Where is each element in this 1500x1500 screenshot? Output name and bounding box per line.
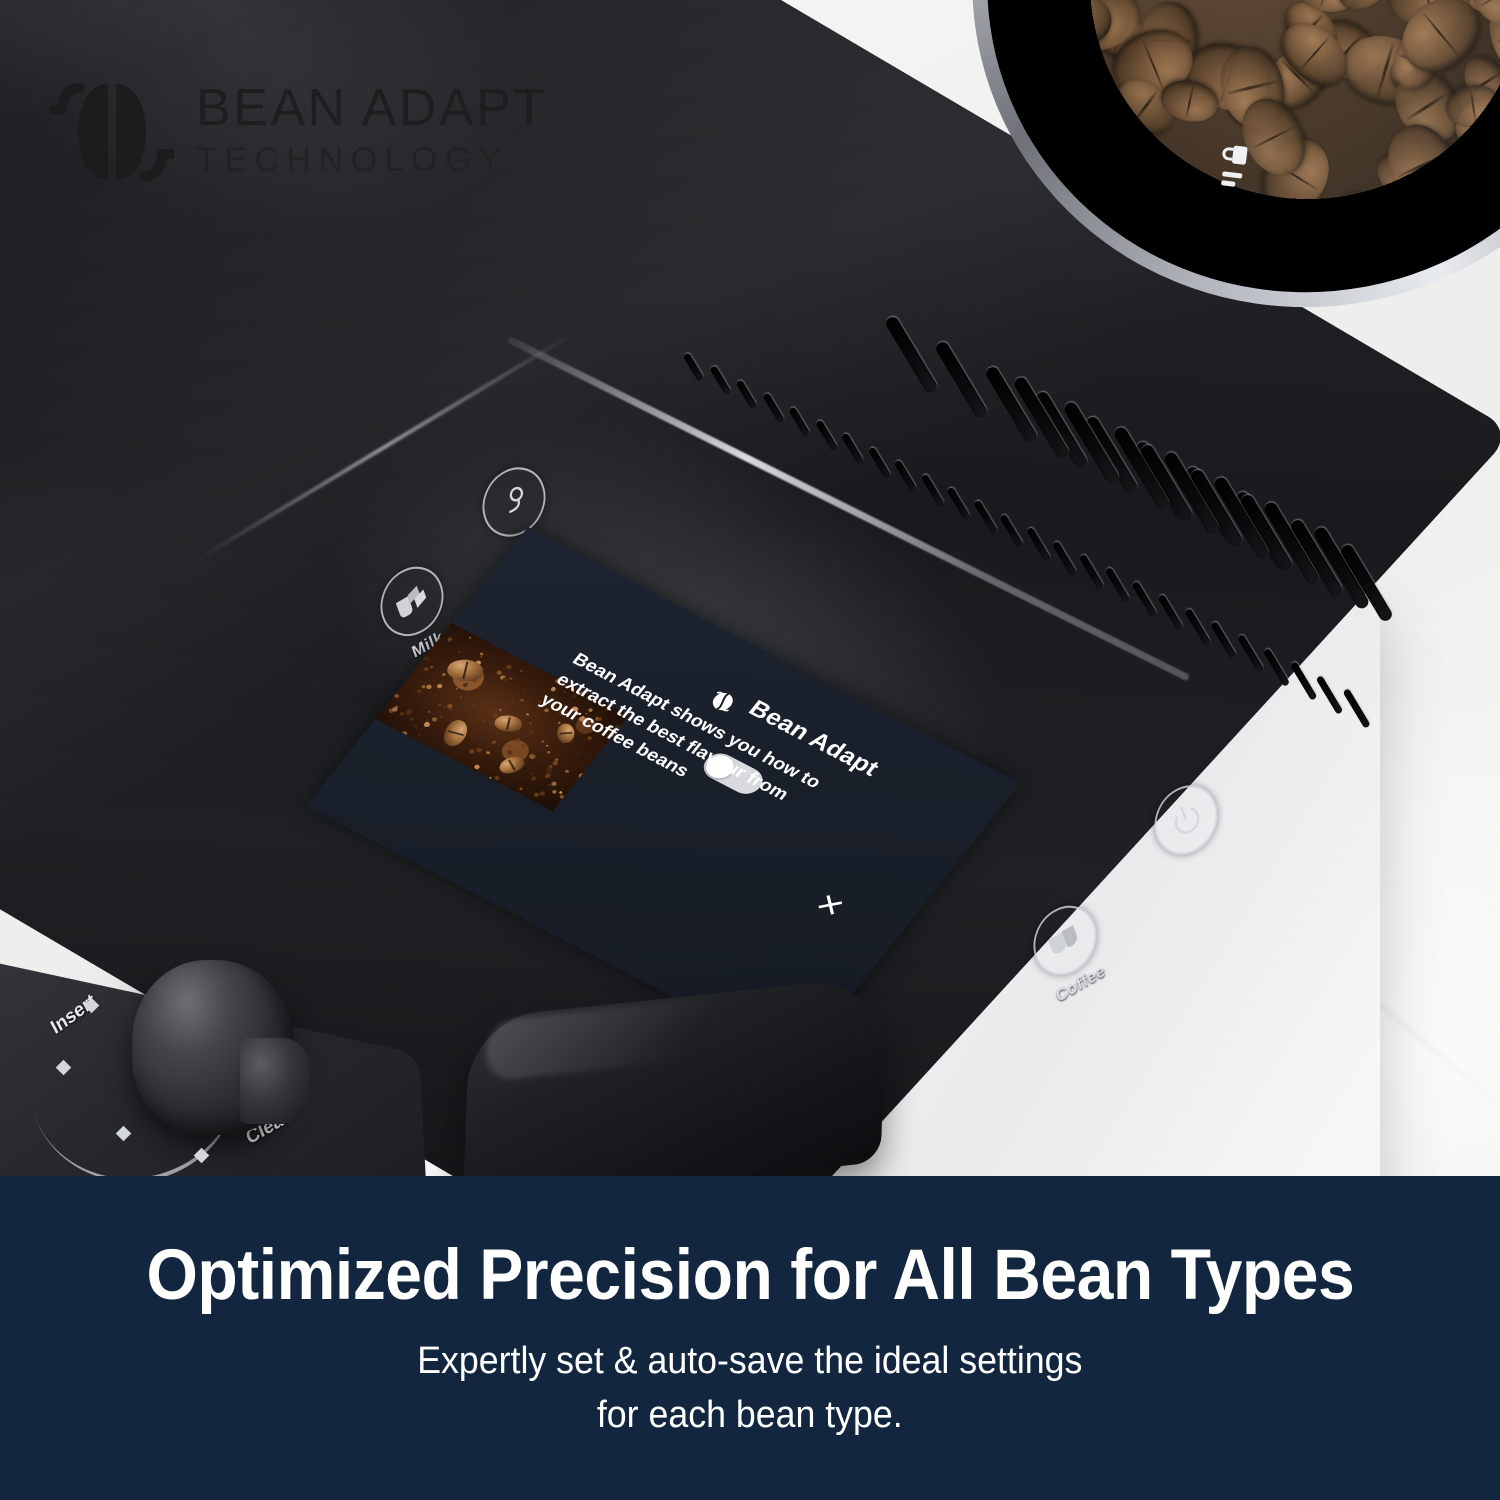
logo-wordmark: BEAN ADAPT TECHNOLOGY bbox=[196, 82, 548, 182]
product-photo: Milk Coffee bbox=[0, 0, 1500, 1176]
hopper-lock-indicator bbox=[1218, 142, 1249, 188]
user-profile-icon bbox=[494, 478, 534, 525]
coffee-bean-icon bbox=[704, 686, 743, 717]
footer-subtitle: Expertly set & auto-save the ideal setti… bbox=[417, 1335, 1082, 1443]
lock-bars-icon bbox=[1221, 171, 1243, 187]
coffee-bean-adapt-icon bbox=[50, 78, 174, 186]
grind-knob-tab[interactable] bbox=[240, 1038, 310, 1124]
logo-line-1: BEAN ADAPT bbox=[196, 82, 548, 135]
footer-banner: Optimized Precision for All Bean Types E… bbox=[0, 1176, 1500, 1500]
power-icon bbox=[1165, 795, 1208, 845]
close-icon[interactable]: ✕ bbox=[809, 889, 849, 923]
footer-subtitle-line-2: for each bean type. bbox=[417, 1389, 1082, 1443]
touchscreen-display[interactable]: Bean Adapt Bean Adapt shows you how to e… bbox=[528, 527, 1083, 899]
logo-line-2: TECHNOLOGY bbox=[196, 138, 548, 182]
footer-subtitle-line-1: Expertly set & auto-save the ideal setti… bbox=[417, 1335, 1082, 1389]
coffee-cup-icon bbox=[1043, 917, 1086, 964]
bean-adapt-logo: BEAN ADAPT TECHNOLOGY bbox=[50, 78, 548, 186]
footer-headline: Optimized Precision for All Bean Types bbox=[146, 1239, 1354, 1314]
lock-icon bbox=[1221, 142, 1249, 167]
milk-jug-icon bbox=[390, 578, 433, 625]
